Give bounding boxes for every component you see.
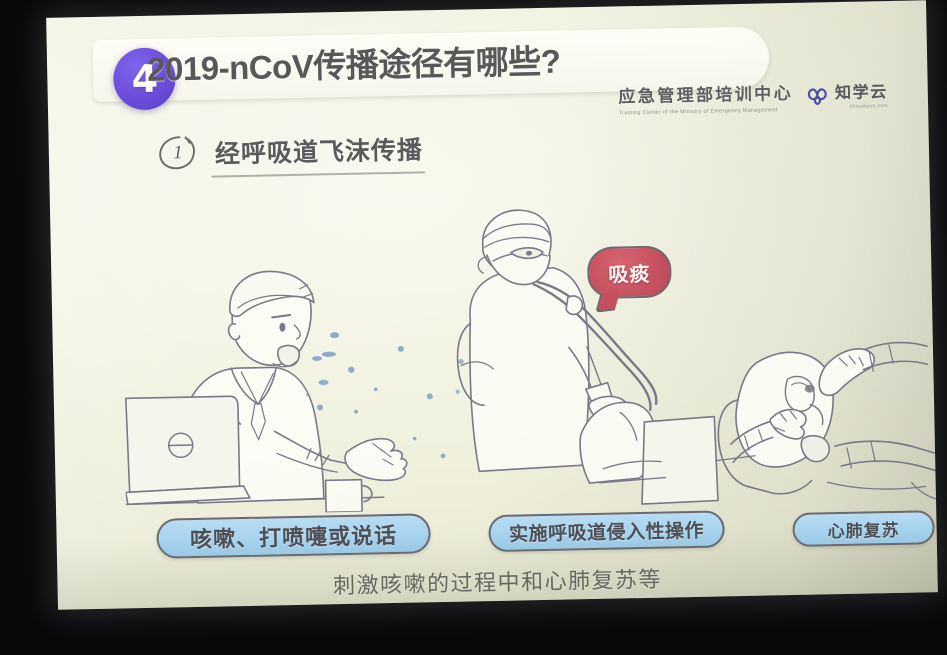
- org-name-cn: 应急管理部培训中心: [618, 79, 793, 107]
- brand-url: zhixueyun.com: [835, 103, 888, 110]
- caption-pill-cpr: 心肺复苏: [792, 510, 935, 547]
- org-header: 应急管理部培训中心 Training Center of the Ministr…: [618, 77, 888, 116]
- illustration-airway-suction: [448, 194, 724, 509]
- speech-bubble-text: 吸痰: [587, 245, 672, 299]
- subsection-number-circle: 1: [154, 133, 201, 174]
- presentation-slide: 4 2019-nCoV传播途径有哪些? 应急管理部培训中心 Training C…: [46, 0, 938, 610]
- org-name-en: Training Center of the Ministry of Emerg…: [619, 107, 794, 117]
- brand-name-cn: 知学云: [835, 78, 888, 103]
- subsection-heading: 1 经呼吸道飞沫传播: [154, 128, 423, 173]
- caption-label: 心肺复苏: [827, 515, 899, 541]
- brand-lockup: 知学云 zhixueyun.com: [805, 77, 888, 111]
- cloud-knot-icon: [805, 84, 830, 105]
- org-names: 应急管理部培训中心 Training Center of the Ministr…: [618, 79, 793, 116]
- page-title: 2019-nCoV传播途径有哪些?: [147, 35, 561, 91]
- subsection-title: 经呼吸道飞沫传播: [215, 130, 424, 170]
- speech-bubble-suction: 吸痰: [587, 245, 672, 299]
- illustration-man-coughing-at-laptop: [121, 260, 456, 517]
- room-photo: 4 2019-nCoV传播途径有哪些? 应急管理部培训中心 Training C…: [0, 0, 947, 655]
- caption-label: 咳嗽、打喷嚏或说话: [190, 518, 398, 554]
- illustration-cpr: [713, 340, 938, 510]
- caption-label: 实施呼吸道侵入性操作: [509, 516, 705, 547]
- brand-text: 知学云 zhixueyun.com: [835, 78, 888, 110]
- subsection-number-label: 1: [154, 133, 201, 174]
- caption-pill-cough-sneeze-talk: 咳嗽、打喷嚏或说话: [156, 513, 431, 558]
- caption-pill-invasive-airway-procedure: 实施呼吸道侵入性操作: [488, 510, 725, 552]
